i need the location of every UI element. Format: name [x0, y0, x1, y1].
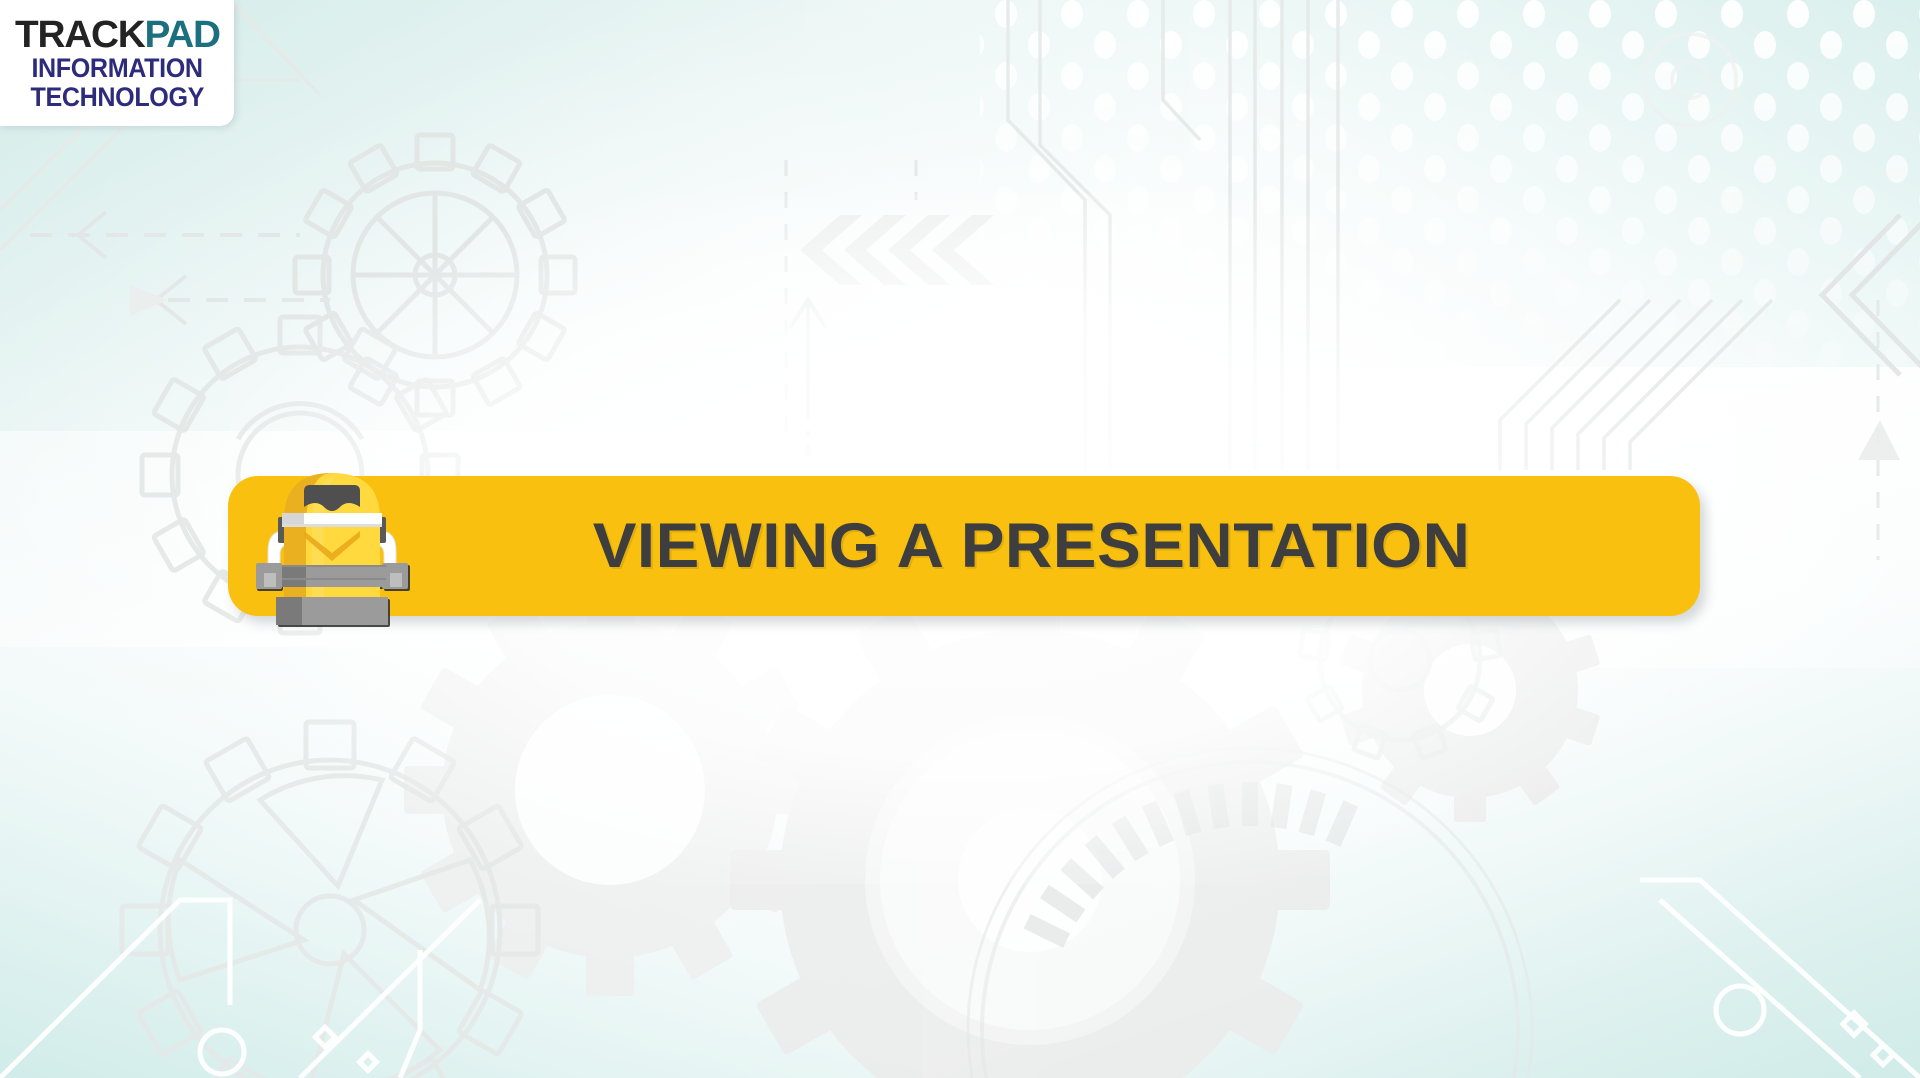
- circuit-bottom-right: [1640, 880, 1920, 1078]
- robot-mascot-illustration: [232, 461, 432, 631]
- robot-headband: [282, 513, 382, 527]
- robot-belt: [282, 565, 386, 587]
- robot-base: [276, 597, 388, 625]
- robot-mascot: [232, 461, 432, 631]
- logo-text-pad: PAD: [144, 14, 219, 56]
- brand-logo-card[interactable]: TRACKPAD INFORMATION TECHNOLOGY: [0, 0, 234, 126]
- logo-subtitle-line2: TECHNOLOGY: [30, 84, 203, 111]
- presentation-slide: TRACKPAD INFORMATION TECHNOLOGY VIEWING …: [0, 0, 1920, 1078]
- circuit-bottom-left: [0, 900, 480, 1078]
- title-banner: VIEWING A PRESENTATION: [228, 476, 1700, 616]
- logo-wordmark: TRACKPAD: [15, 18, 220, 53]
- logo-text-track: TRACK: [15, 14, 145, 56]
- logo-subtitle-line1: INFORMATION: [31, 55, 202, 82]
